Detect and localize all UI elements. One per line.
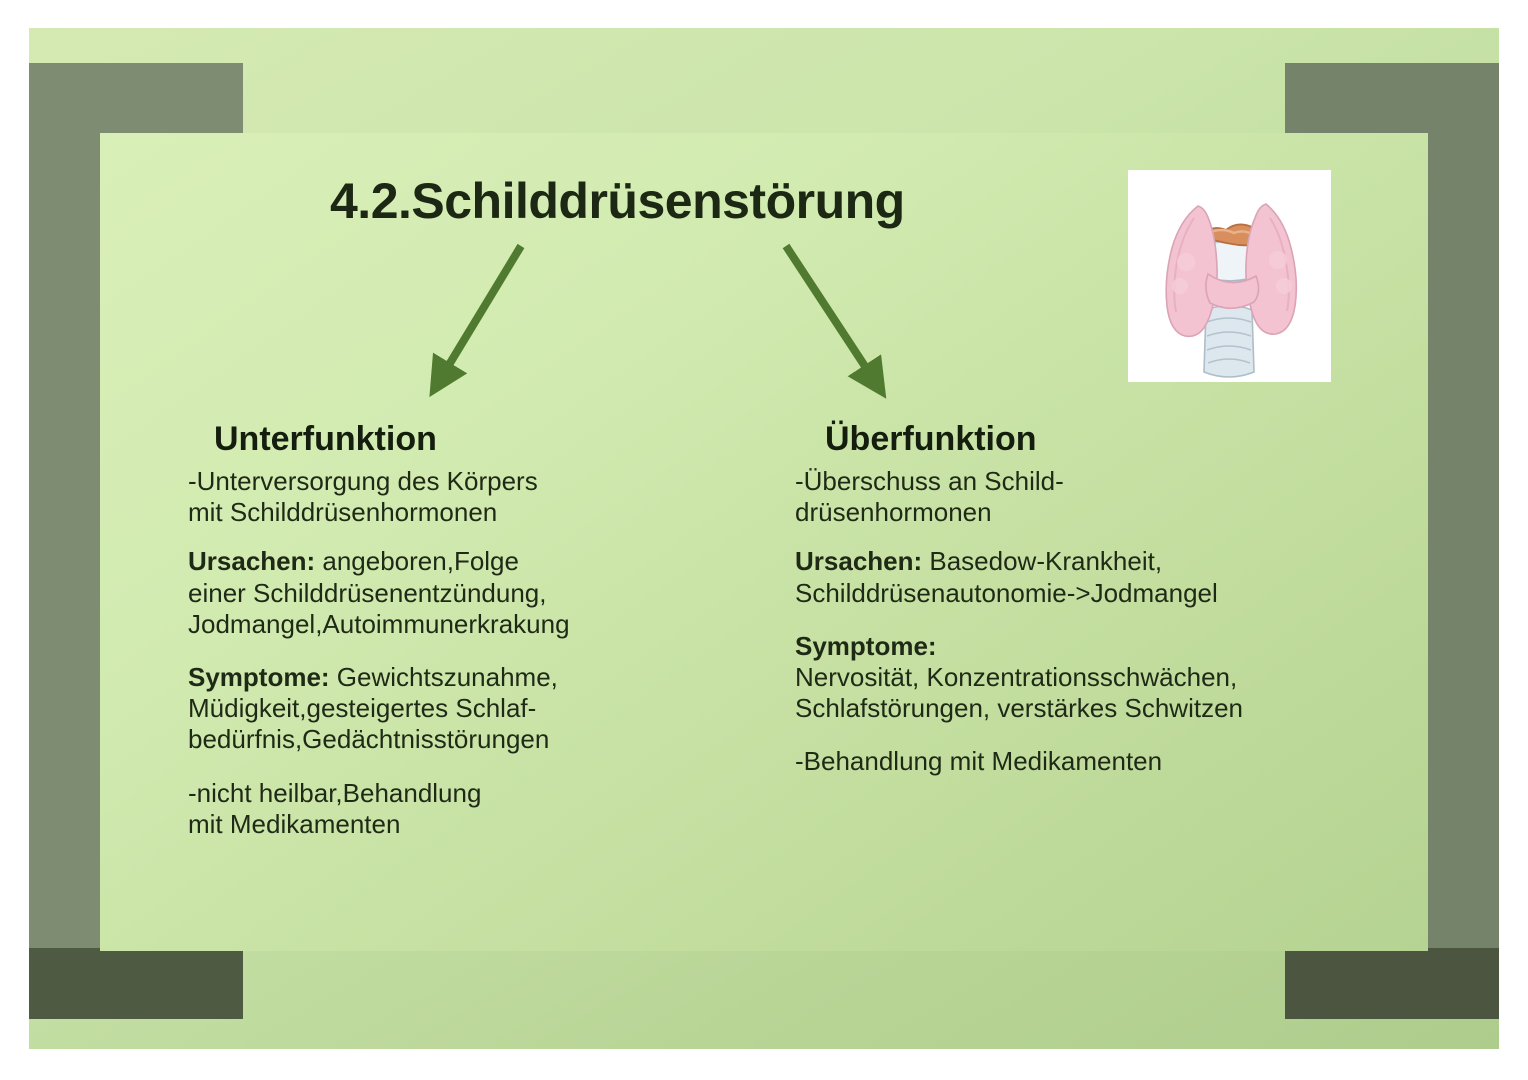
page-title: 4.2.Schilddrüsenstörung — [330, 172, 905, 230]
thyroid-gland-icon — [1128, 170, 1331, 382]
ueberfunktion-symptoms: Symptome: Nervosität, Konzentrationsschw… — [795, 631, 1395, 725]
unterfunktion-symptoms-label: Symptome: — [188, 662, 330, 692]
unterfunktion-causes: Ursachen: angeboren,Folge einer Schilddr… — [188, 546, 758, 640]
ueberfunktion-causes: Ursachen: Basedow-Krankheit, Schilddrüse… — [795, 546, 1395, 608]
corner-bracket-bottom-right — [1285, 948, 1499, 1019]
unterfunktion-symptoms: Symptome: Gewichtszunahme, Müdigkeit,ges… — [188, 662, 758, 756]
unterfunktion-treatment: -nicht heilbar,Behandlung mit Medikament… — [188, 778, 758, 840]
corner-bracket-bottom-left — [29, 948, 243, 1019]
column-unterfunktion: Unterfunktion -Unterversorgung des Körpe… — [188, 420, 758, 862]
ueberfunktion-symptoms-label: Symptome: — [795, 631, 937, 661]
bracket-horizontal-bar — [29, 63, 243, 133]
bracket-horizontal-bar — [29, 948, 243, 1019]
bracket-horizontal-bar — [1285, 948, 1499, 1019]
ueberfunktion-intro: -Überschuss an Schild- drüsenhormonen — [795, 466, 1395, 528]
ueberfunktion-treatment: -Behandlung mit Medikamenten — [795, 746, 1395, 777]
bracket-vertical-bar — [1428, 63, 1499, 953]
slide-root: 4.2.Schilddrüsenstörung — [0, 0, 1528, 1080]
unterfunktion-causes-label: Ursachen: — [188, 546, 315, 576]
ueberfunktion-causes-label: Ursachen: — [795, 546, 922, 576]
unterfunktion-intro: -Unterversorgung des Körpers mit Schildd… — [188, 466, 758, 528]
bracket-horizontal-bar — [1285, 63, 1499, 133]
heading-unterfunktion: Unterfunktion — [188, 420, 758, 459]
heading-ueberfunktion: Überfunktion — [795, 420, 1395, 459]
column-ueberfunktion: Überfunktion -Überschuss an Schild- drüs… — [795, 420, 1395, 800]
bracket-vertical-bar — [29, 63, 100, 953]
ueberfunktion-symptoms-text: Nervosität, Konzentrationsschwächen, Sch… — [795, 662, 1243, 723]
